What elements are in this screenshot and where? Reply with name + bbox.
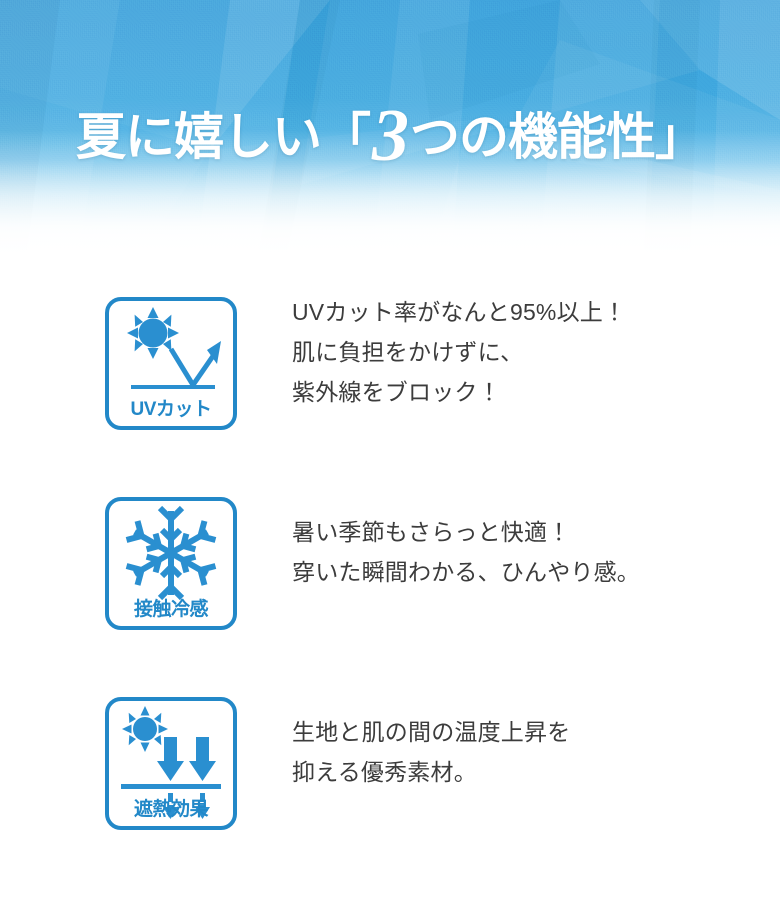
feature-text-line: 紫外線をブロック！ [292,372,732,412]
feature-row: UVカット UVカット率がなんと95%以上！ 肌に負担をかけずに、 紫外線をブロ… [0,258,780,458]
page-title-number: 3 [370,95,410,177]
heat-shield-icon-box: 遮熱効果 [105,697,237,830]
uv-cut-icon-box: UVカット [105,297,237,430]
page-title: 夏に嬉しい「3つの機能性」 [0,112,780,162]
uv-cut-icon-label: UVカット [109,400,233,419]
feature-text-line: 生地と肌の間の温度上昇を [292,712,732,752]
promo-page: 夏に嬉しい「3つの機能性」 [0,0,780,900]
cooling-icon-box: 接触冷感 [105,497,237,630]
feature-text-line: 穿いた瞬間わかる、ひんやり感。 [292,552,732,592]
header-banner: 夏に嬉しい「3つの機能性」 [0,0,780,258]
feature-description: UVカット率がなんと95%以上！ 肌に負担をかけずに、 紫外線をブロック！ [292,292,732,412]
feature-row: 遮熱効果 生地と肌の間の温度上昇を 抑える優秀素材。 [0,658,780,858]
feature-description: 暑い季節もさらっと快適！ 穿いた瞬間わかる、ひんやり感。 [292,512,732,592]
feature-text-line: 肌に負担をかけずに、 [292,332,732,372]
feature-text-line: 抑える優秀素材。 [292,752,732,792]
cooling-icon-label: 接触冷感 [109,600,233,619]
page-title-prefix: 夏に嬉しい「 [76,109,370,165]
feature-row: 接触冷感 暑い季節もさらっと快適！ 穿いた瞬間わかる、ひんやり感。 [0,458,780,658]
page-title-suffix: つの機能性」 [410,109,704,165]
heat-shield-icon-label: 遮熱効果 [109,800,233,819]
feature-list: UVカット UVカット率がなんと95%以上！ 肌に負担をかけずに、 紫外線をブロ… [0,258,780,858]
feature-text-line: UVカット率がなんと95%以上！ [292,292,732,332]
feature-text-line: 暑い季節もさらっと快適！ [292,512,732,552]
feature-description: 生地と肌の間の温度上昇を 抑える優秀素材。 [292,712,732,792]
